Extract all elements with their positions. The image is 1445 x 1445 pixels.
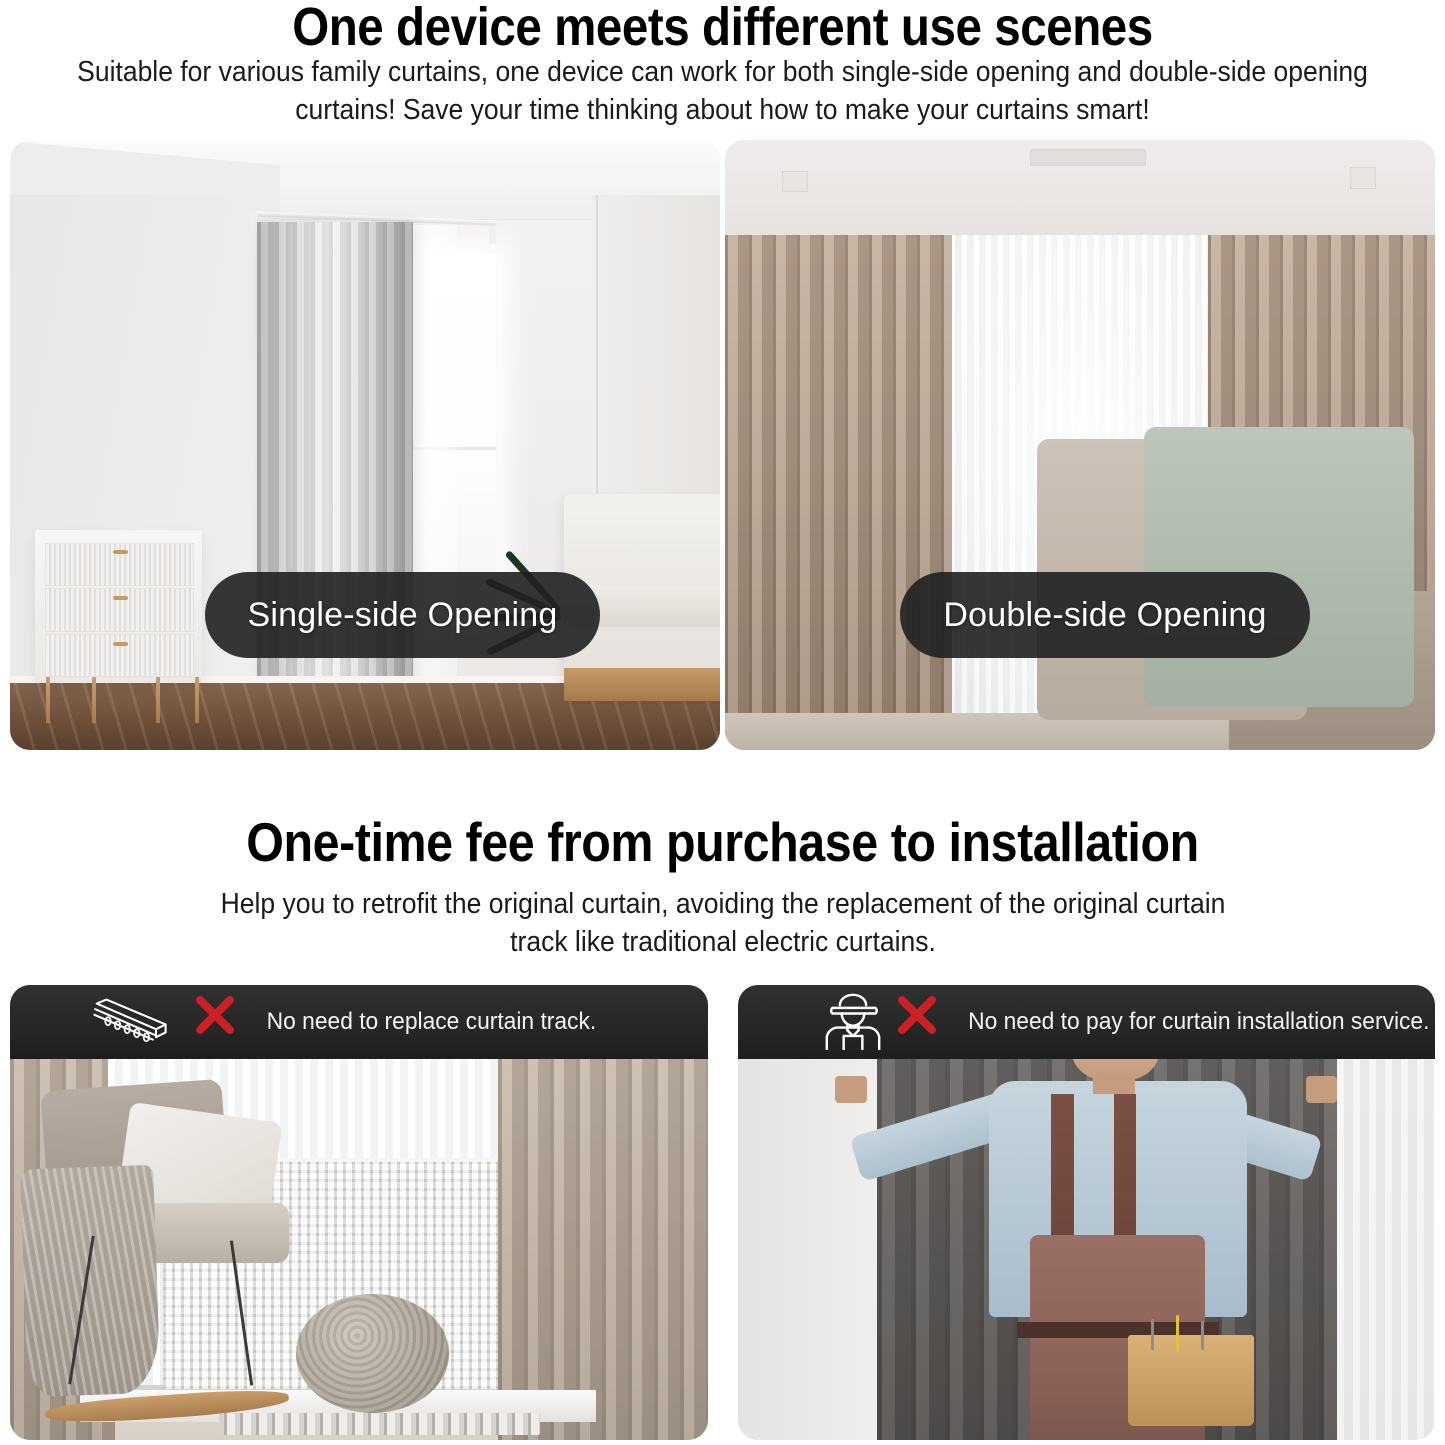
worker-hand-left: [835, 1076, 866, 1103]
armchair-wood-base: [564, 668, 720, 701]
one-time-fee-title: One-time fee from purchase to installati…: [87, 815, 1359, 870]
dresser-drawer: [45, 543, 194, 586]
one-time-fee-heading-block: One-time fee from purchase to installati…: [0, 815, 1445, 962]
red-cross-icon: [192, 992, 244, 1052]
curtain-hooks: [219, 1413, 540, 1436]
use-scenes-subtitle: Suitable for various family curtains, on…: [51, 54, 1395, 130]
one-time-fee-subtitle: Help you to retrofit the original curtai…: [206, 886, 1238, 962]
dresser-drawer: [45, 588, 194, 631]
wrench-tool: [1151, 1319, 1154, 1350]
no-install-fee-banner: No need to pay for curtain installation …: [738, 985, 1436, 1059]
worker-icon: [816, 992, 890, 1052]
knitted-pouf: [296, 1294, 449, 1412]
red-cross-icon: [894, 992, 946, 1052]
curtain-track-icon: [92, 992, 188, 1052]
ceiling-vent: [1030, 149, 1146, 166]
dresser-drawer: [45, 634, 194, 677]
pill-label-text: Double-side Opening: [943, 596, 1266, 635]
pliers-tool: [1201, 1321, 1204, 1350]
throw-blanket: [20, 1165, 160, 1397]
one-time-fee-photo-row: No need to replace curtain track. Save: [10, 985, 1435, 1440]
sofa-cushion-green: [1144, 427, 1414, 708]
worker-tool-belt: [1128, 1335, 1254, 1426]
single-side-pill-label: Single-side Opening: [205, 572, 600, 658]
pill-label-text: Single-side Opening: [248, 596, 558, 635]
use-scenes-heading-block: One device meets different use scenes Su…: [0, 0, 1445, 130]
double-side-scene-photo: Double-side Opening: [725, 140, 1435, 750]
double-side-pill-label: Double-side Opening: [900, 572, 1310, 658]
screwdriver-tool: [1176, 1315, 1179, 1351]
no-track-replace-photo: No need to replace curtain track. Save: [10, 985, 708, 1440]
no-track-replace-banner-text: No need to replace curtain track.: [267, 1008, 597, 1036]
use-scenes-photo-row: Single-side Opening Double-side Opening: [10, 140, 1435, 750]
dresser-handle: [113, 550, 128, 554]
dresser-leg: [195, 677, 199, 723]
ceiling-spot-right: [1350, 167, 1376, 189]
dresser-handle: [113, 596, 128, 600]
no-track-replace-banner: No need to replace curtain track.: [10, 985, 708, 1059]
dresser-leg: [92, 677, 96, 723]
taupe-curtain-left: [725, 235, 952, 750]
product-feature-page: One device meets different use scenes Su…: [0, 0, 1445, 1445]
dresser: [35, 530, 202, 683]
dresser-handle: [113, 642, 128, 646]
single-side-scene-photo: Single-side Opening: [10, 140, 720, 750]
dresser-leg: [156, 677, 160, 723]
no-install-fee-photo: No need to pay for curtain installation …: [738, 985, 1436, 1440]
worker-hand-right: [1306, 1076, 1337, 1103]
no-install-fee-banner-text: No need to pay for curtain installation …: [968, 1008, 1429, 1036]
use-scenes-title: One device meets different use scenes: [87, 0, 1359, 54]
curtain-rod-bracket-right: [489, 228, 496, 244]
dresser-leg: [46, 677, 50, 723]
ceiling-spot-left: [782, 171, 808, 193]
